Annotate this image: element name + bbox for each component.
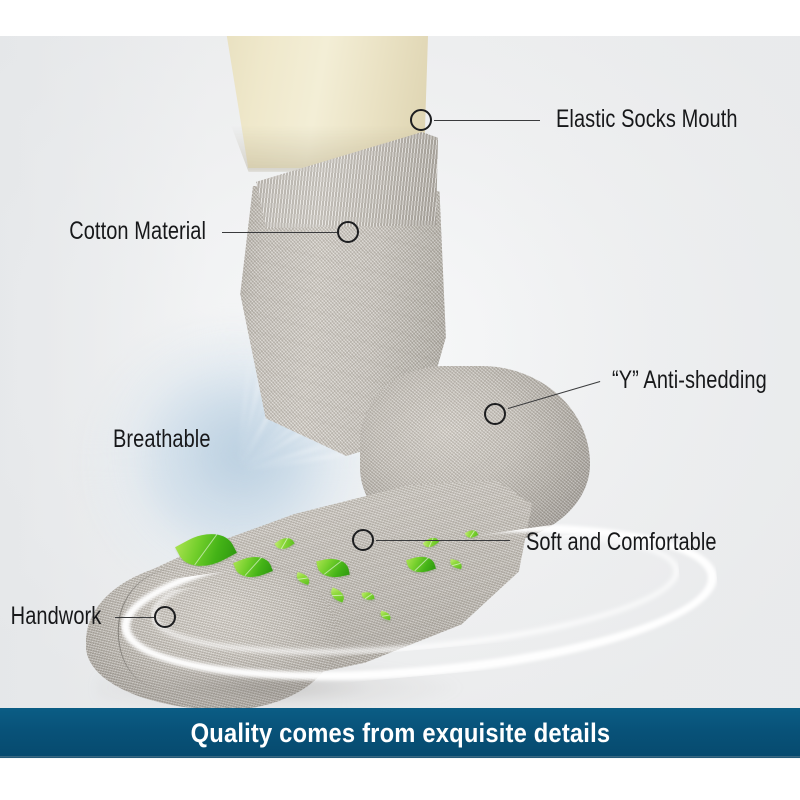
- callout-marker-y-anti-shedding: [484, 403, 506, 425]
- callout-leader-line: [376, 540, 510, 541]
- callout-marker-elastic-socks-mouth: [410, 109, 432, 131]
- callout-label-elastic-socks-mouth: Elastic Socks Mouth: [556, 107, 738, 132]
- bottom-white-strip: [0, 759, 800, 800]
- callout-leader-line: [222, 232, 337, 233]
- callout-marker-handwork: [154, 606, 176, 628]
- callout-leader-line: [434, 120, 540, 121]
- top-white-strip: [0, 0, 800, 36]
- callout-label-soft-and-comfortable: Soft and Comfortable: [526, 530, 717, 555]
- callout-leader-line: [115, 617, 154, 618]
- product-infographic: Elastic Socks MouthCotton Material“Y” An…: [0, 0, 800, 800]
- callout-label-cotton-material: Cotton Material: [69, 219, 206, 244]
- callout-label-handwork: Handwork: [10, 604, 101, 629]
- banner-text: Quality comes from exquisite details: [190, 718, 610, 749]
- callout-label-breathable: Breathable: [113, 427, 211, 452]
- callout-marker-soft-and-comfortable: [352, 529, 374, 551]
- callout-marker-cotton-material: [337, 221, 359, 243]
- callout-label-y-anti-shedding: “Y” Anti-shedding: [612, 368, 767, 393]
- bottom-banner: Quality comes from exquisite details: [0, 708, 800, 758]
